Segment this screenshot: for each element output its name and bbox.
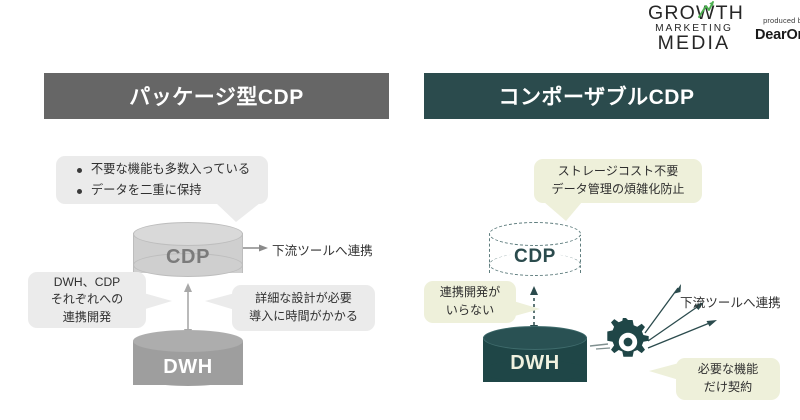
right-bubble-storage: ストレージコスト不要 データ管理の煩雑化防止 [534,159,702,203]
right-bubble-nointegration-line-0: 連携開発が [440,284,500,302]
right-downstream-note: 下流ツールへ連携 [680,292,781,311]
right-bubble-nointegration-line-1: いらない [446,302,494,320]
left-bubble-design-tail [204,291,236,313]
left-bubble-design-line-1: 導入に時間がかかる [249,308,358,326]
left-bubble-integration-tail [140,290,174,312]
left-dwh-cylinder: DWH [133,330,243,396]
right-dwh-label: DWH [483,352,587,375]
right-bubble-contract-line-1: だけ契約 [704,379,752,397]
produced-by-label: produced by [755,16,800,25]
growth-arrow-icon [698,1,714,19]
left-bubble-bullet-list: 不要な機能も多数入っている データを二重に保持 [74,161,250,200]
left-connectors [0,0,800,420]
left-dwh-label: DWH [133,356,243,379]
right-bubble-nointegration: 連携開発が いらない [424,281,516,323]
right-connectors [0,0,800,420]
slide-canvas: GROWTH MARKETING MEDIA produced by DearO… [0,0,800,420]
right-cdp-cylinder: CDP [489,222,581,284]
left-bullet-0: 不要な機能も多数入っている [76,161,250,179]
logo-line-growth: GROWTH [648,4,740,24]
left-downstream-note: 下流ツールへ連携 [272,240,373,259]
left-bubble-integration-line-0: DWH、CDP [54,274,121,292]
left-bubble-drawbacks-tail [216,202,262,224]
right-bubble-contract: 必要な機能 だけ契約 [676,358,780,400]
dearone-wordmark: DearOne [755,27,800,43]
right-bubble-storage-line-0: ストレージコスト不要 [558,163,679,181]
right-dwh-cylinder: DWH [483,326,587,392]
left-bubble-drawbacks: 不要な機能も多数入っている データを二重に保持 [56,156,268,204]
left-bullet-1: データを二重に保持 [76,182,250,200]
left-column-header: パッケージ型CDP [44,73,389,119]
left-cdp-label: CDP [133,246,243,269]
right-cdp-label: CDP [489,246,581,268]
left-bubble-integration: DWH、CDP それぞれへの 連携開発 [28,272,146,328]
dearone-logo: produced by DearOne [755,16,800,43]
right-column-header: コンポーザブルCDP [424,73,769,119]
right-bubble-storage-tail [542,201,584,223]
right-bubble-nointegration-tail [510,299,542,319]
right-bubble-contract-tail [648,362,680,382]
left-cdp-cylinder: CDP [133,222,243,284]
left-bubble-integration-line-1: それぞれへの [51,291,124,309]
left-bubble-design: 詳細な設計が必要 導入に時間がかかる [232,285,375,331]
brand-logo: GROWTH MARKETING MEDIA produced by DearO… [648,6,796,52]
left-bubble-integration-line-2: 連携開発 [63,309,111,327]
left-bubble-design-line-0: 詳細な設計が必要 [255,290,352,308]
logo-line-media: MEDIA [648,34,740,54]
right-bubble-contract-line-0: 必要な機能 [698,361,758,379]
right-bubble-storage-line-1: データ管理の煩雑化防止 [551,181,684,199]
growth-marketing-media-logo: GROWTH MARKETING MEDIA [648,4,740,54]
gear-icon [604,318,652,366]
